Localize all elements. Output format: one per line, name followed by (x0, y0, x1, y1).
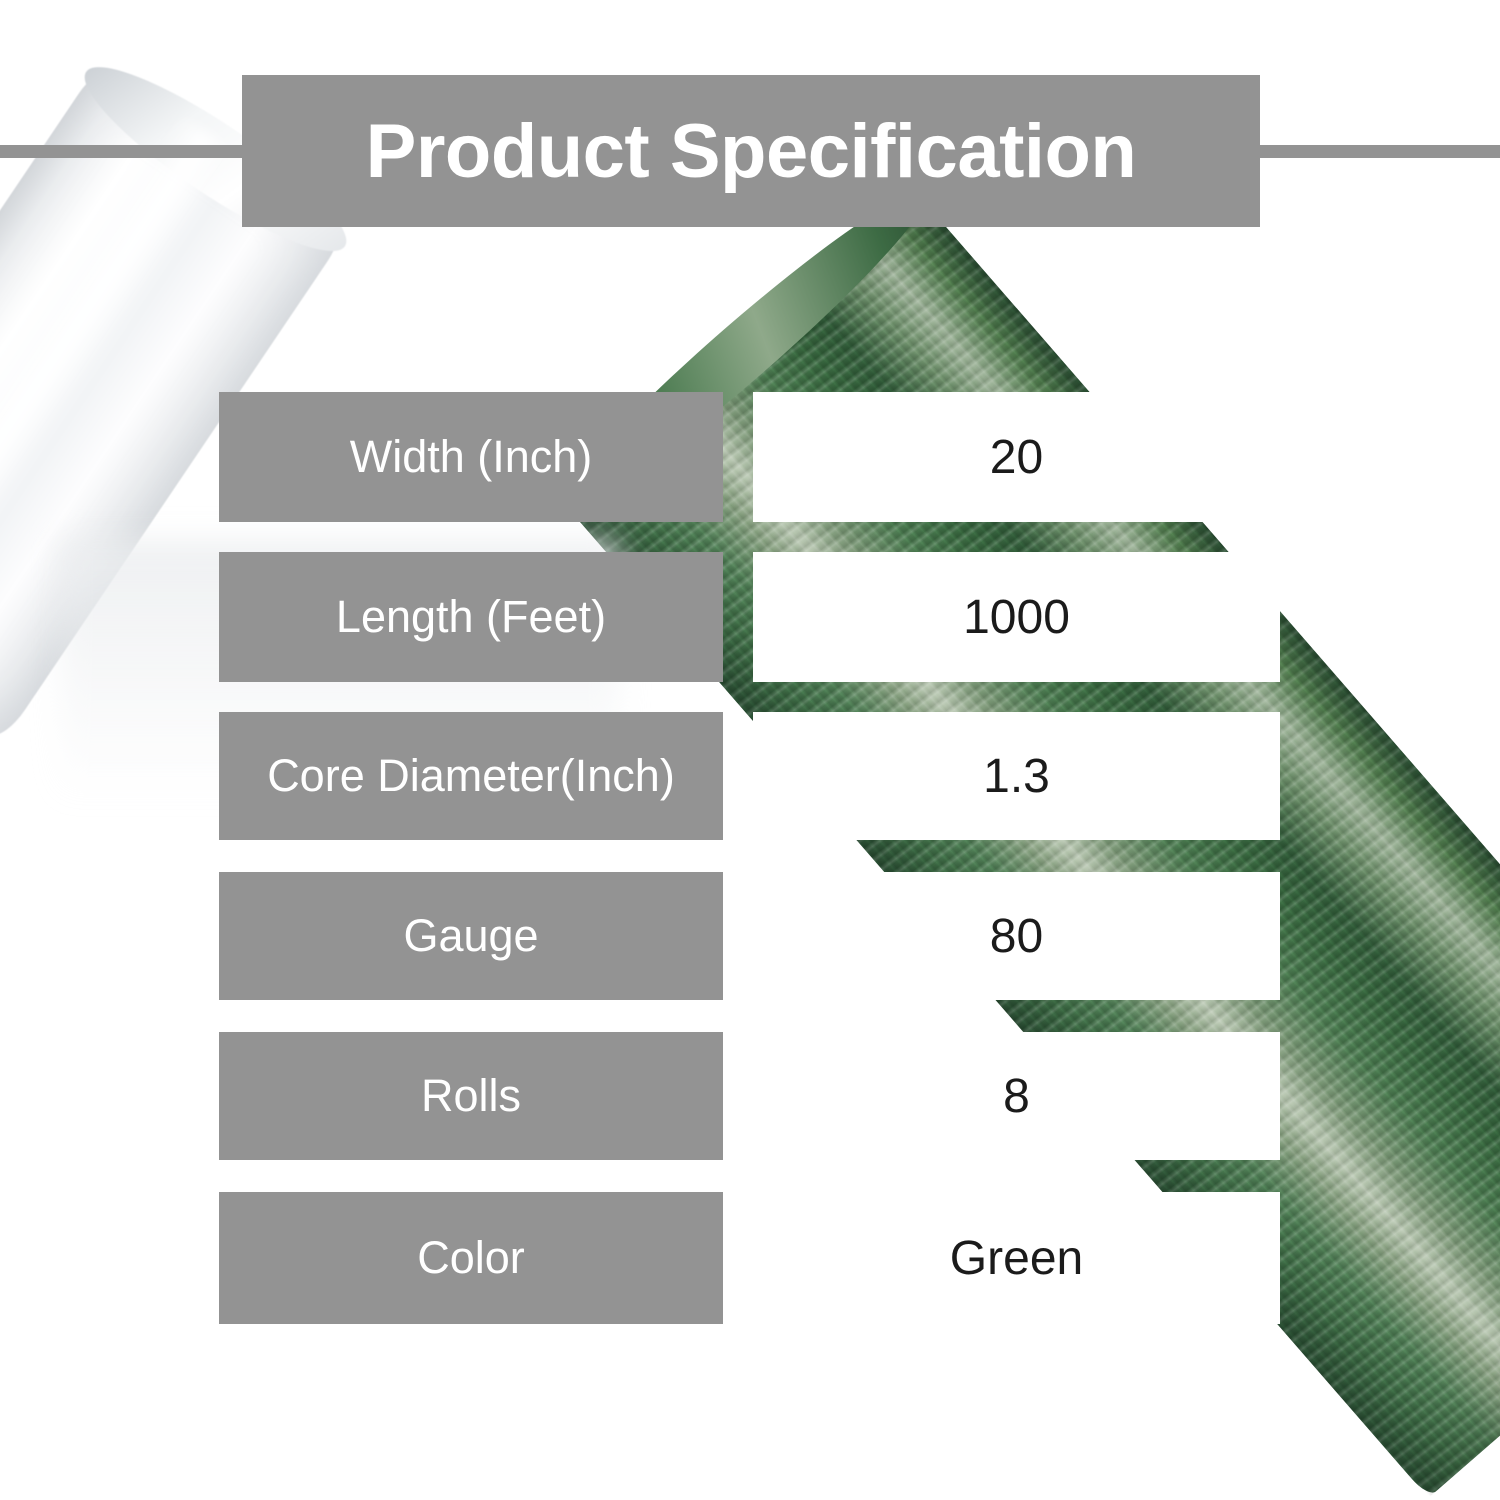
specification-table: Width (Inch)20Length (Feet)1000Core Diam… (0, 0, 1500, 1500)
spec-value: 80 (753, 872, 1280, 1000)
spec-label: Color (219, 1192, 723, 1324)
spec-value: 1.3 (753, 712, 1280, 840)
spec-label: Core Diameter(Inch) (219, 712, 723, 840)
spec-value: 1000 (753, 552, 1280, 682)
spec-label: Gauge (219, 872, 723, 1000)
spec-label: Length (Feet) (219, 552, 723, 682)
spec-label: Width (Inch) (219, 392, 723, 522)
spec-value: 8 (753, 1032, 1280, 1160)
spec-label: Rolls (219, 1032, 723, 1160)
spec-value: Green (753, 1192, 1280, 1324)
product-specification-graphic: Product Specification Width (Inch)20Leng… (0, 0, 1500, 1500)
spec-value: 20 (753, 392, 1280, 522)
